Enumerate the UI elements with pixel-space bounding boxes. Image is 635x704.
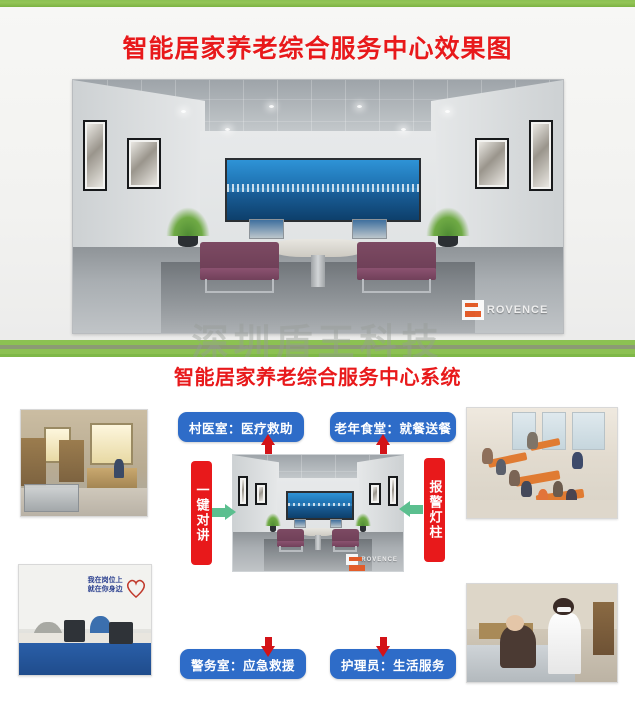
- chair-back: [200, 242, 278, 271]
- table-leg: [315, 535, 320, 550]
- wall-art-frame: [238, 476, 248, 506]
- plant-pot: [270, 526, 277, 531]
- seated-person: [527, 432, 538, 449]
- arrow-body: [409, 505, 423, 514]
- canteen-scene: [467, 408, 617, 518]
- cabinet: [21, 438, 46, 487]
- green-divider-band: [0, 340, 635, 357]
- seated-person: [496, 459, 507, 476]
- potted-plant: [426, 207, 470, 247]
- wall-art-frame: [475, 138, 509, 189]
- arrow-down-icon: [261, 646, 275, 657]
- desk-monitor: [64, 620, 85, 642]
- nursing-scene: [467, 584, 617, 682]
- rovence-logo-text: ROVENCE: [361, 557, 398, 563]
- plant-leaves: [426, 207, 470, 236]
- arrow-tip: [225, 504, 236, 520]
- rovence-logo-text: ROVENCE: [487, 304, 548, 316]
- chair-legs: [333, 546, 357, 552]
- seated-person: [572, 452, 583, 469]
- nurse-white-coat: [548, 613, 581, 674]
- rovence-logo: ROVENCE: [346, 554, 398, 565]
- armchair: [200, 242, 278, 293]
- elderly-person: [500, 625, 536, 668]
- photo-clinic: [20, 409, 148, 517]
- arrow-up-icon: [261, 434, 275, 445]
- dining-table: [488, 452, 528, 468]
- photo-nursing-care: [466, 583, 618, 683]
- node-intercom-label: 一键对讲: [194, 483, 208, 543]
- wall-art-frame: [83, 120, 108, 191]
- rovence-mark-icon: [462, 300, 484, 320]
- plant-pot: [438, 236, 457, 247]
- chair-legs: [279, 546, 303, 552]
- staff-person: [114, 459, 124, 478]
- seated-person: [521, 481, 532, 498]
- node-nurse-label: 护理员：生活服务: [341, 655, 445, 674]
- ceiling-light-icon: [225, 128, 230, 131]
- plant-leaves: [166, 207, 210, 236]
- desk-monitor: [330, 519, 342, 528]
- desk-monitor: [294, 519, 306, 528]
- arrow-stem: [380, 637, 387, 646]
- display-water: [227, 192, 419, 219]
- seated-person: [482, 448, 493, 465]
- chair-legs: [205, 279, 274, 292]
- glass-display-case: [24, 484, 79, 512]
- arrow-tip: [399, 501, 410, 517]
- system-diagram: 我在岗位上 就在你身边: [0, 397, 635, 697]
- photo-canteen: [466, 407, 618, 519]
- node-police[interactable]: 警务室：应急救援: [180, 649, 306, 679]
- chair-legs: [362, 279, 431, 292]
- node-clinic-label: 村医室：医疗救助: [189, 418, 293, 437]
- node-nurse[interactable]: 护理员：生活服务: [330, 649, 456, 679]
- arrow-body: [212, 508, 226, 517]
- clinic-scene: [21, 410, 147, 516]
- poster-page: 智能居家养老综合服务中心效果图: [0, 0, 635, 704]
- arrow-up-icon: [376, 434, 390, 445]
- arrow-right-icon: [212, 504, 236, 521]
- video-wall-display: [286, 491, 354, 520]
- wall-art-frame: [369, 483, 381, 505]
- chair-back: [357, 242, 435, 271]
- arrow-stem: [265, 445, 272, 454]
- armchair: [277, 529, 304, 552]
- desk-monitor: [352, 219, 386, 239]
- node-canteen-label: 老年食堂：就餐送餐: [334, 418, 451, 437]
- wall-art-frame: [388, 476, 398, 506]
- hero-room-photo: ROVENCE: [72, 79, 564, 334]
- photo-police-desk: 我在岗位上 就在你身边: [18, 564, 152, 676]
- cabinet: [59, 440, 84, 482]
- seated-person: [553, 481, 564, 498]
- desk-monitor: [109, 622, 133, 644]
- node-intercom[interactable]: 一键对讲: [191, 461, 212, 565]
- wooden-cabinet: [593, 602, 614, 655]
- section-effect-diagram: 智能居家养老综合服务中心效果图: [0, 7, 635, 340]
- arrow-left-icon: [399, 501, 423, 518]
- node-alarm-pole-label: 报警灯柱: [427, 480, 441, 540]
- rovence-logo: ROVENCE: [462, 300, 548, 320]
- armchair: [332, 529, 359, 552]
- top-green-bar: [0, 0, 635, 7]
- plant-leaves: [265, 513, 280, 526]
- table-leg: [311, 255, 326, 288]
- node-clinic[interactable]: 村医室：医疗救助: [178, 412, 304, 442]
- node-alarm-pole[interactable]: 报警灯柱: [424, 458, 445, 562]
- wall-art-frame: [127, 138, 161, 189]
- page-title-secondary: 智能居家养老综合服务中心系统: [0, 361, 635, 390]
- center-control-room-photo: ROVENCE: [232, 454, 404, 572]
- room-illustration: ROVENCE: [233, 455, 403, 571]
- heart-icon: [125, 578, 147, 598]
- seated-person: [509, 470, 520, 487]
- floor: [467, 500, 617, 518]
- rovence-mark-icon: [346, 554, 358, 565]
- face-mask-icon: [557, 607, 571, 613]
- room-illustration: ROVENCE: [73, 80, 563, 333]
- display-water: [288, 506, 352, 518]
- desk-monitor: [249, 219, 283, 239]
- window: [90, 423, 133, 465]
- police-scene: 我在岗位上 就在你身边: [19, 565, 151, 675]
- page-title-primary: 智能居家养老综合服务中心效果图: [0, 29, 635, 65]
- plant-leaves: [355, 513, 370, 526]
- arrow-stem: [380, 445, 387, 454]
- potted-plant: [166, 207, 210, 247]
- node-canteen[interactable]: 老年食堂：就餐送餐: [330, 412, 456, 442]
- plant-pot: [178, 236, 197, 247]
- section-system-diagram: 智能居家养老综合服务中心系统: [0, 357, 635, 704]
- arrow-stem: [265, 637, 272, 646]
- wall-art-frame: [529, 120, 554, 191]
- armchair: [357, 242, 435, 293]
- node-police-label: 警务室：应急救援: [191, 655, 295, 674]
- elderly-head: [506, 615, 524, 631]
- window: [572, 412, 605, 449]
- arrow-down-icon: [376, 646, 390, 657]
- video-wall-display: [225, 158, 421, 221]
- wall-art-frame: [255, 483, 267, 505]
- plant-pot: [360, 526, 367, 531]
